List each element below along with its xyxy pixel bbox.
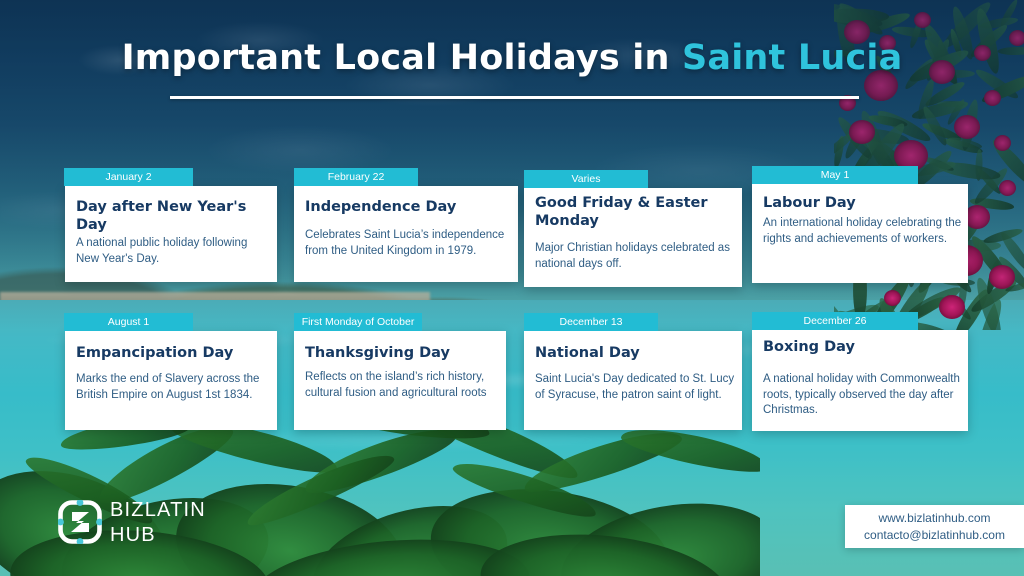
page-header: Important Local Holidays in Saint Lucia <box>0 38 1024 78</box>
holiday-date-tab: January 2 <box>64 168 193 186</box>
brand-logo-text: BIZLATIN HUB <box>110 498 206 548</box>
holiday-name: Thanksgiving Day <box>305 344 505 362</box>
holiday-name: Good Friday & Easter Monday <box>535 194 735 230</box>
holiday-date-tab: December 13 <box>524 313 658 331</box>
holiday-name: Independence Day <box>305 198 505 216</box>
holiday-description: Marks the end of Slavery across the Brit… <box>76 372 266 403</box>
title-underline <box>170 96 859 99</box>
holiday-description: A national public holiday following New … <box>76 236 266 267</box>
holiday-description: Saint Lucia's Day dedicated to St. Lucy … <box>535 372 735 403</box>
holiday-date-tab: Varies <box>524 170 648 188</box>
holiday-date-tab: First Monday of October <box>294 313 422 331</box>
contact-email[interactable]: contacto@bizlatinhub.com <box>864 527 1005 544</box>
holiday-description: Major Christian holidays celebrated as n… <box>535 241 735 272</box>
contact-box[interactable]: www.bizlatinhub.com contacto@bizlatinhub… <box>845 505 1024 548</box>
holiday-name: Day after New Year's Day <box>76 198 266 234</box>
holiday-description: A national holiday with Commonwealth roo… <box>763 372 963 419</box>
holiday-description: Reflects on the island’s rich history, c… <box>305 370 505 401</box>
holiday-date-tab: August 1 <box>64 313 193 331</box>
holiday-name: Boxing Day <box>763 338 963 356</box>
holiday-date-tab: February 22 <box>294 168 418 186</box>
holiday-date-tab: May 1 <box>752 166 918 184</box>
page-title: Important Local Holidays in Saint Lucia <box>0 38 1024 78</box>
brand-logo-line1: BIZLATIN <box>110 498 206 523</box>
holiday-description: An international holiday celebrating the… <box>763 216 963 247</box>
page-title-accent: Saint Lucia <box>682 38 902 78</box>
holiday-name: Empancipation Day <box>76 344 266 362</box>
brand-logo: BIZLATIN HUB <box>58 498 258 550</box>
holiday-description: Celebrates Saint Lucia’s independence fr… <box>305 228 505 259</box>
background-photo <box>0 0 1024 576</box>
holiday-name: National Day <box>535 344 735 362</box>
contact-website[interactable]: www.bizlatinhub.com <box>878 510 990 527</box>
bizlatinhub-logo-icon <box>58 500 102 544</box>
infographic-canvas: Important Local Holidays in Saint Lucia … <box>0 0 1024 576</box>
holiday-date-tab: December 26 <box>752 312 918 330</box>
page-title-main: Important Local Holidays in <box>122 38 682 78</box>
brand-logo-line2: HUB <box>110 523 206 548</box>
holiday-name: Labour Day <box>763 194 963 212</box>
